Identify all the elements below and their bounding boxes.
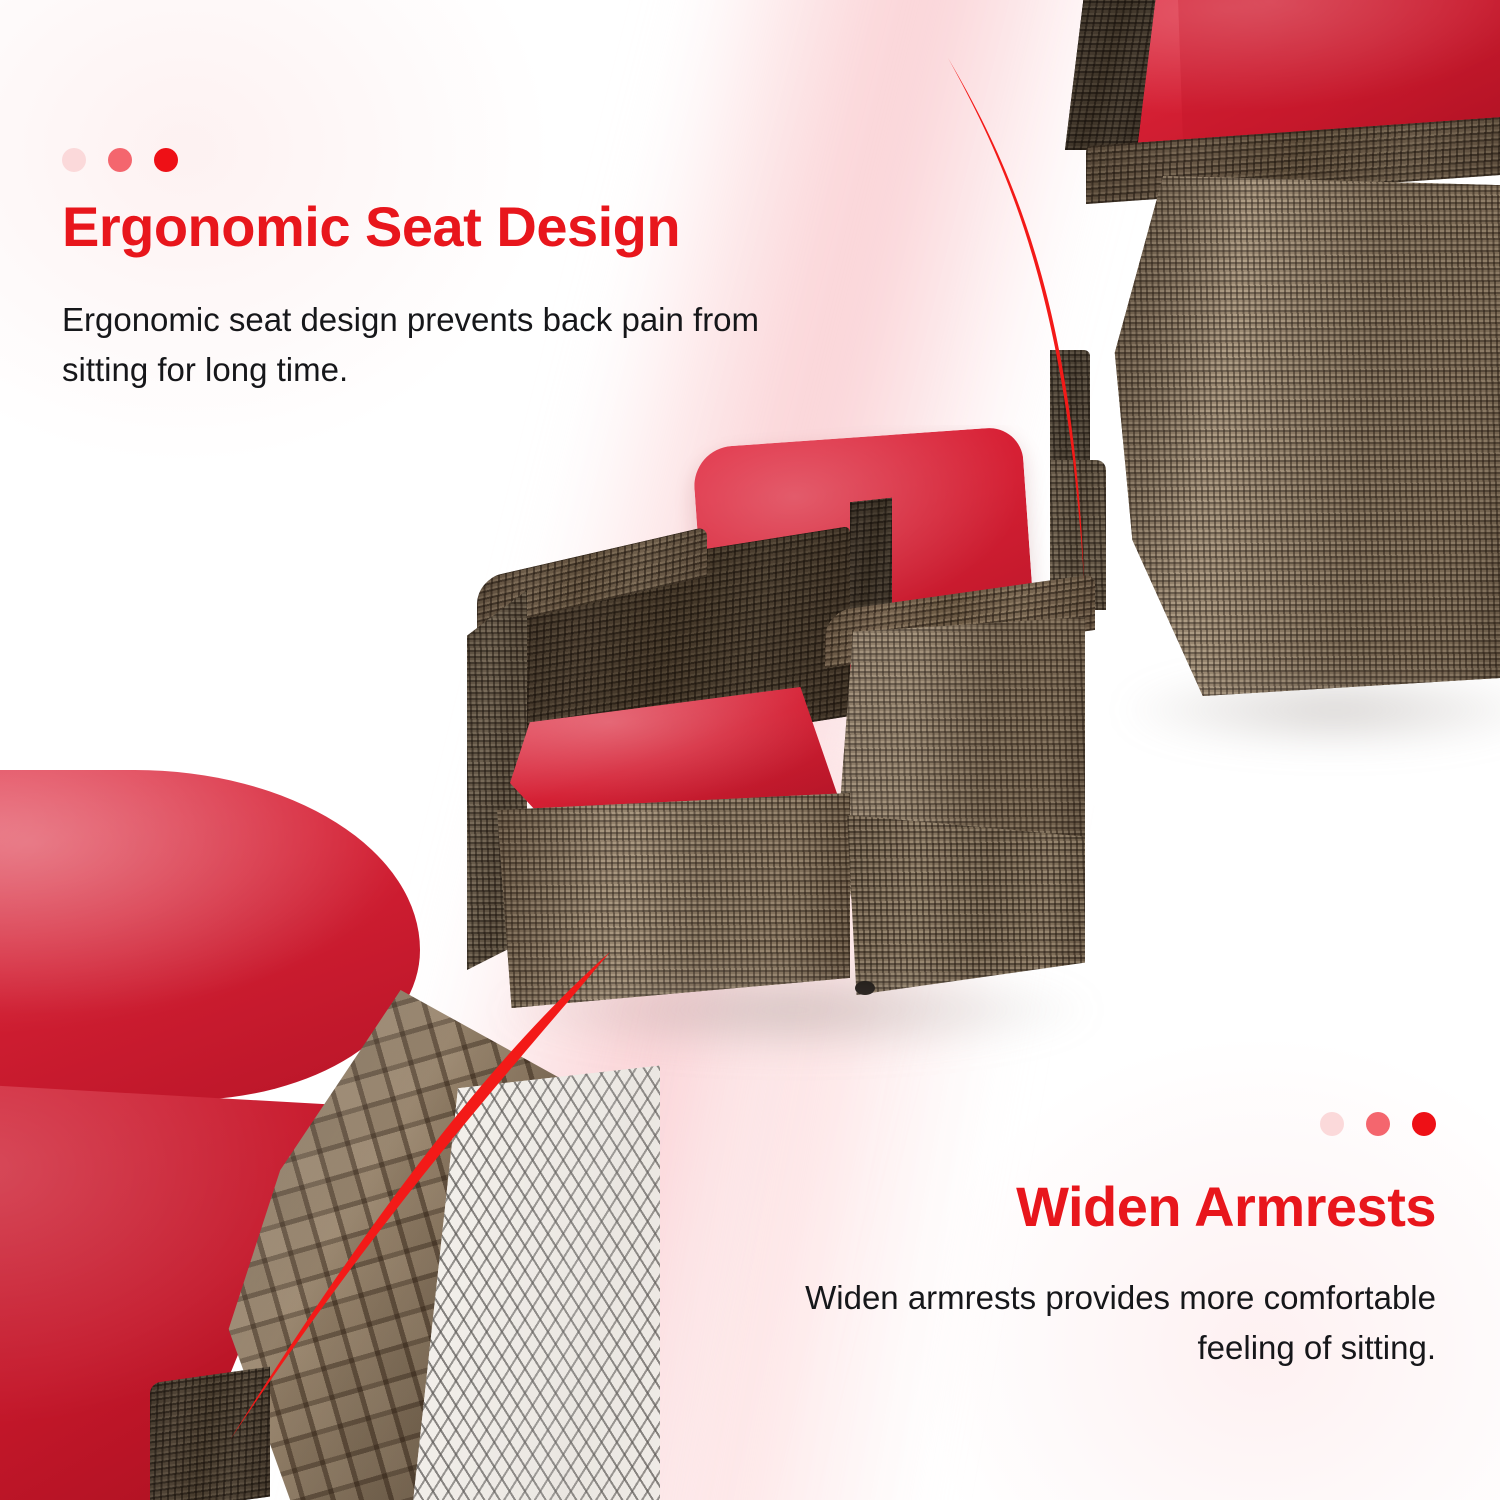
photo-bottom-left-armrest-closeup bbox=[0, 760, 660, 1500]
feature-body-widen-armrests: Widen armrests provides more comfortable… bbox=[796, 1273, 1436, 1373]
dot-light-icon bbox=[1320, 1112, 1344, 1136]
feature-block-widen-armrests: Widen Armrests Widen armrests provides m… bbox=[796, 1176, 1436, 1373]
dot-medium-icon bbox=[1366, 1112, 1390, 1136]
dot-solid-icon bbox=[1412, 1112, 1436, 1136]
floor-shadow-top-right bbox=[1120, 670, 1500, 750]
dot-solid-icon bbox=[154, 148, 178, 172]
feature-heading-ergonomic-seat-design: Ergonomic Seat Design bbox=[62, 196, 762, 259]
wicker-side-panel-shading-top-right bbox=[1106, 176, 1500, 696]
wicker-corner-sliver-bottom-left bbox=[150, 1367, 270, 1500]
dot-cluster-top-left bbox=[62, 148, 178, 172]
cushion-pillow-highlight-bottom-left bbox=[0, 770, 420, 1100]
photo-top-right-chair-closeup bbox=[1050, 0, 1500, 800]
dot-medium-icon bbox=[108, 148, 132, 172]
feature-body-ergonomic-seat-design: Ergonomic seat design prevents back pain… bbox=[62, 295, 762, 395]
dot-cluster-bottom-right bbox=[1320, 1112, 1436, 1136]
feature-block-ergonomic-seat-design: Ergonomic Seat Design Ergonomic seat des… bbox=[62, 196, 762, 395]
feature-heading-widen-armrests: Widen Armrests bbox=[796, 1176, 1436, 1239]
dot-light-icon bbox=[62, 148, 86, 172]
product-feature-graphic: Ergonomic Seat Design Ergonomic seat des… bbox=[0, 0, 1500, 1500]
